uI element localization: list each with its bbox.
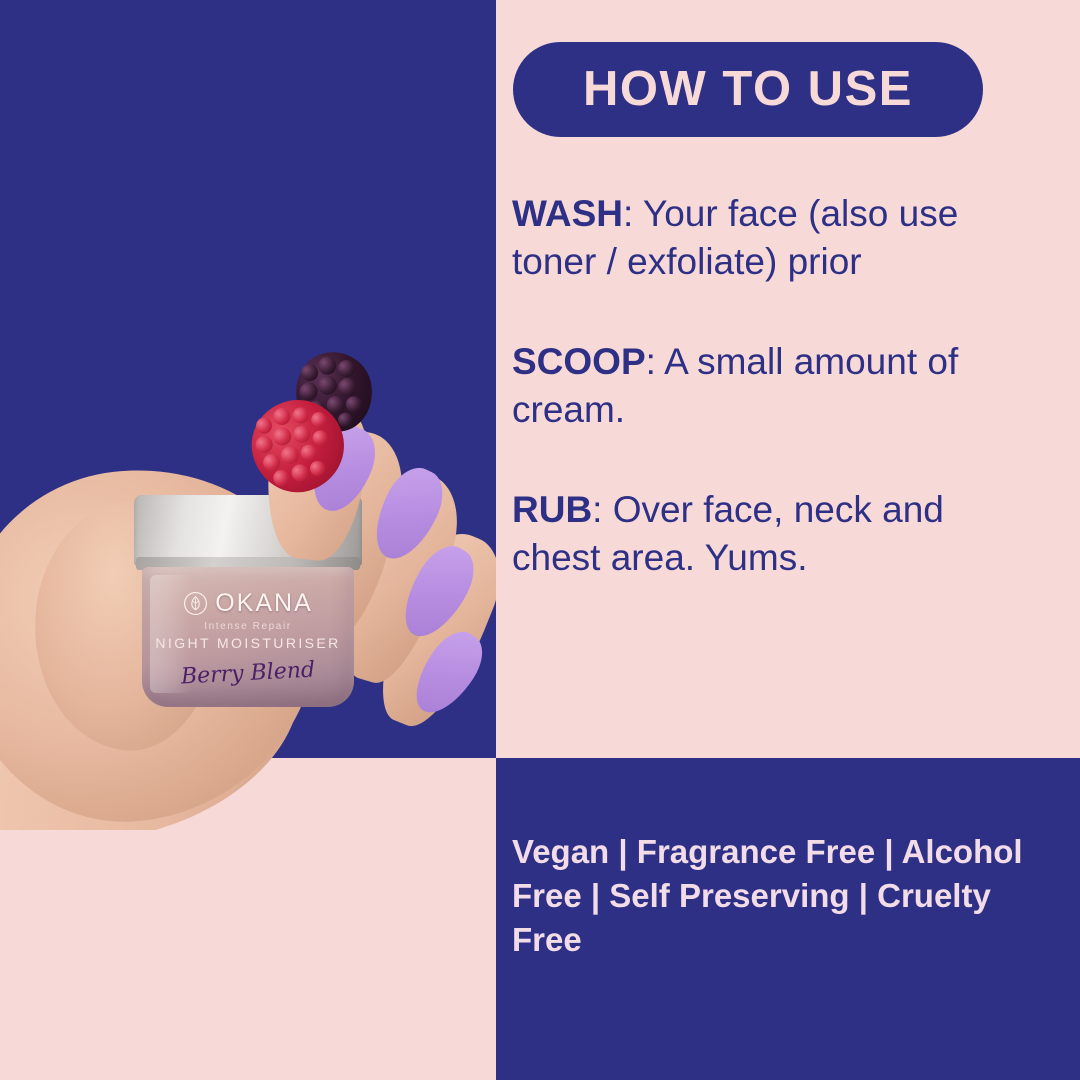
step-separator: : (623, 193, 643, 234)
step-key: WASH (512, 193, 623, 234)
jar-brand-row: OKANA (132, 591, 364, 616)
step-separator: : (592, 489, 613, 530)
okana-leaf-logo-icon (183, 591, 208, 616)
step-separator: : (646, 341, 665, 382)
product-photo: OKANA Intense Repair NIGHT MOISTURISER B… (0, 0, 496, 830)
step-wash: WASH: Your face (also use toner / exfoli… (512, 190, 1042, 286)
how-to-use-heading-pill: HOW TO USE (513, 42, 983, 137)
poster-canvas: OKANA Intense Repair NIGHT MOISTURISER B… (0, 0, 1080, 1080)
step-rub: RUB: Over face, neck and chest area. Yum… (512, 486, 1042, 582)
step-key: SCOOP (512, 341, 646, 382)
jar-brand-name: OKANA (215, 591, 313, 616)
step-key: RUB (512, 489, 592, 530)
berry-garnish (248, 352, 378, 492)
product-claims: Vegan | Fragrance Free | Alcohol Free | … (512, 830, 1068, 963)
how-to-use-heading-text: HOW TO USE (583, 65, 913, 114)
jar-line-night-moisturiser: NIGHT MOISTURISER (132, 635, 364, 651)
jar-line-intense-repair: Intense Repair (132, 621, 364, 632)
instruction-steps: WASH: Your face (also use toner / exfoli… (512, 190, 1042, 635)
step-scoop: SCOOP: A small amount of cream. (512, 338, 1042, 434)
